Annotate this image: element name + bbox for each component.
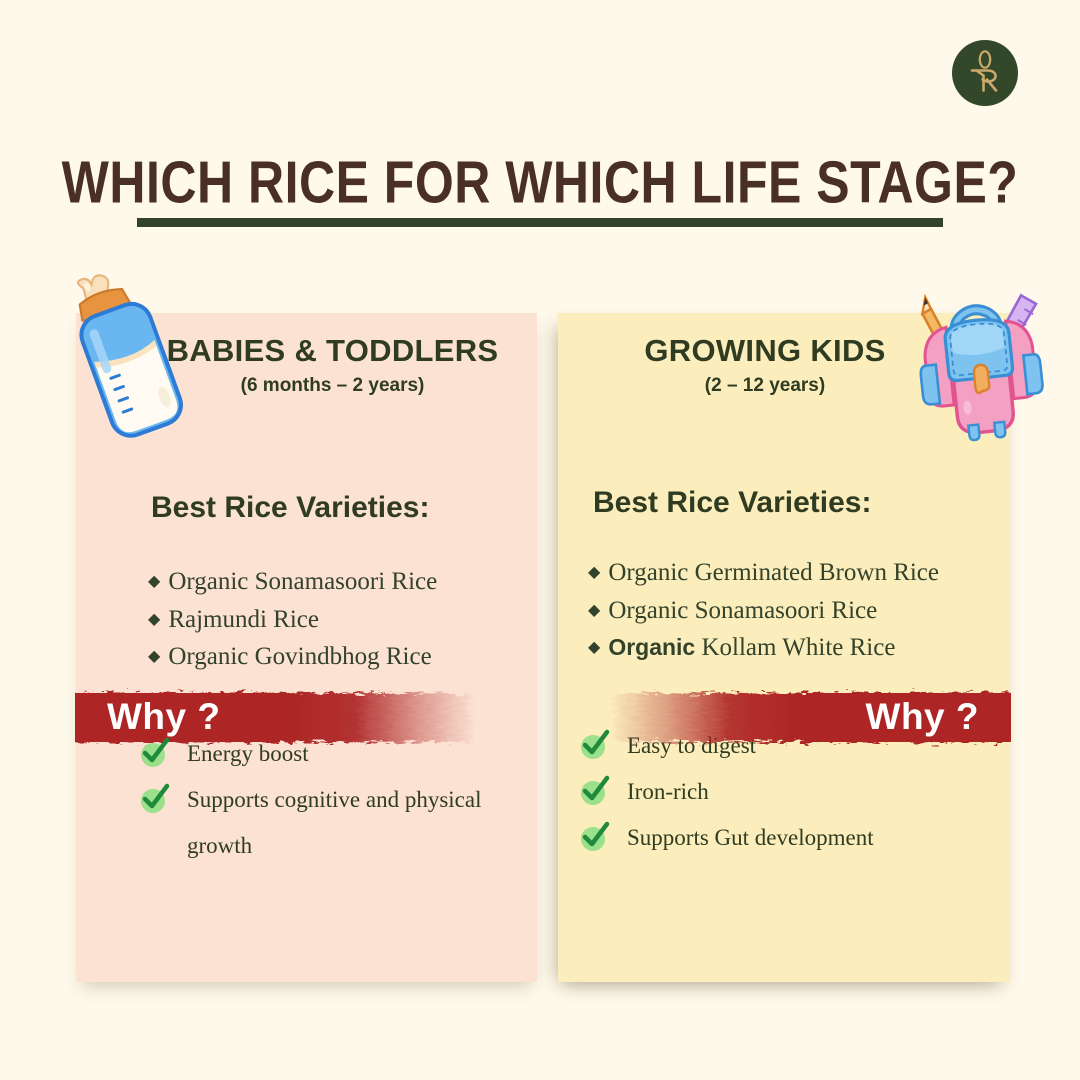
variety-name: Rajmundi Rice — [168, 606, 319, 633]
green-check-icon — [580, 779, 606, 805]
green-check-icon — [140, 787, 166, 813]
leaf-r-monogram-icon — [963, 50, 1007, 96]
variety-list: ◆Organic Sonamasoori Rice ◆Rajmundi Rice… — [76, 525, 537, 676]
why-banner: Why ? — [75, 687, 475, 749]
list-item: ◆Rajmundi Rice — [148, 601, 537, 639]
brand-logo[interactable] — [952, 40, 1018, 106]
benefit-text: Supports Gut development — [627, 815, 874, 861]
list-item: Iron-rich — [580, 769, 1010, 815]
list-item: Supports cognitive and physical growth — [140, 777, 537, 869]
title-underline-rule — [137, 218, 943, 227]
page-title-block: WHICH RICE FOR WHICH LIFE STAGE? — [0, 148, 1080, 206]
variety-name: Organic Germinated Brown Rice — [608, 559, 939, 586]
list-item: ◆Organic Govindbhog Rice — [148, 638, 537, 676]
list-item: ◆Organic Sonamasoori Rice — [588, 592, 1010, 630]
variety-name: Kollam White Rice — [695, 634, 895, 661]
list-item: ◆Organic Sonamasoori Rice — [148, 563, 537, 601]
page-title: WHICH RICE FOR WHICH LIFE STAGE? — [0, 148, 1080, 216]
diamond-bullet-icon: ◆ — [588, 639, 600, 656]
diamond-bullet-icon: ◆ — [148, 611, 160, 628]
diamond-bullet-icon: ◆ — [148, 573, 160, 590]
why-label: Why ? — [107, 696, 220, 738]
variety-name: Organic Sonamasoori Rice — [608, 597, 877, 624]
diamond-bullet-icon: ◆ — [148, 648, 160, 665]
life-stage-cards: BABIES & TODDLERS (6 months – 2 years) B… — [0, 313, 1080, 983]
green-check-icon — [140, 741, 166, 767]
green-check-icon — [580, 733, 606, 759]
list-item: ◆Organic Germinated Brown Rice — [588, 554, 1010, 592]
diamond-bullet-icon: ◆ — [588, 564, 600, 581]
school-backpack-icon — [890, 274, 1070, 449]
variety-name-emphasis: Organic — [608, 634, 695, 660]
variety-name: Organic Sonamasoori Rice — [168, 568, 437, 595]
benefit-text: Iron-rich — [627, 769, 709, 815]
benefit-text: Supports cognitive and physical growth — [187, 777, 517, 869]
green-check-icon — [580, 825, 606, 851]
variety-list: ◆Organic Germinated Brown Rice ◆Organic … — [558, 520, 1010, 667]
card-babies-toddlers[interactable]: BABIES & TODDLERS (6 months – 2 years) B… — [76, 313, 537, 982]
card-growing-kids[interactable]: GROWING KIDS (2 – 12 years) Best Rice Va… — [558, 313, 1010, 982]
list-item: Supports Gut development — [580, 815, 1010, 861]
diamond-bullet-icon: ◆ — [588, 602, 600, 619]
why-label: Why ? — [866, 696, 979, 738]
why-banner: Why ? — [611, 687, 1011, 749]
list-item: ◆Organic Kollam White Rice — [588, 629, 1010, 667]
variety-name: Organic Govindbhog Rice — [168, 643, 431, 670]
